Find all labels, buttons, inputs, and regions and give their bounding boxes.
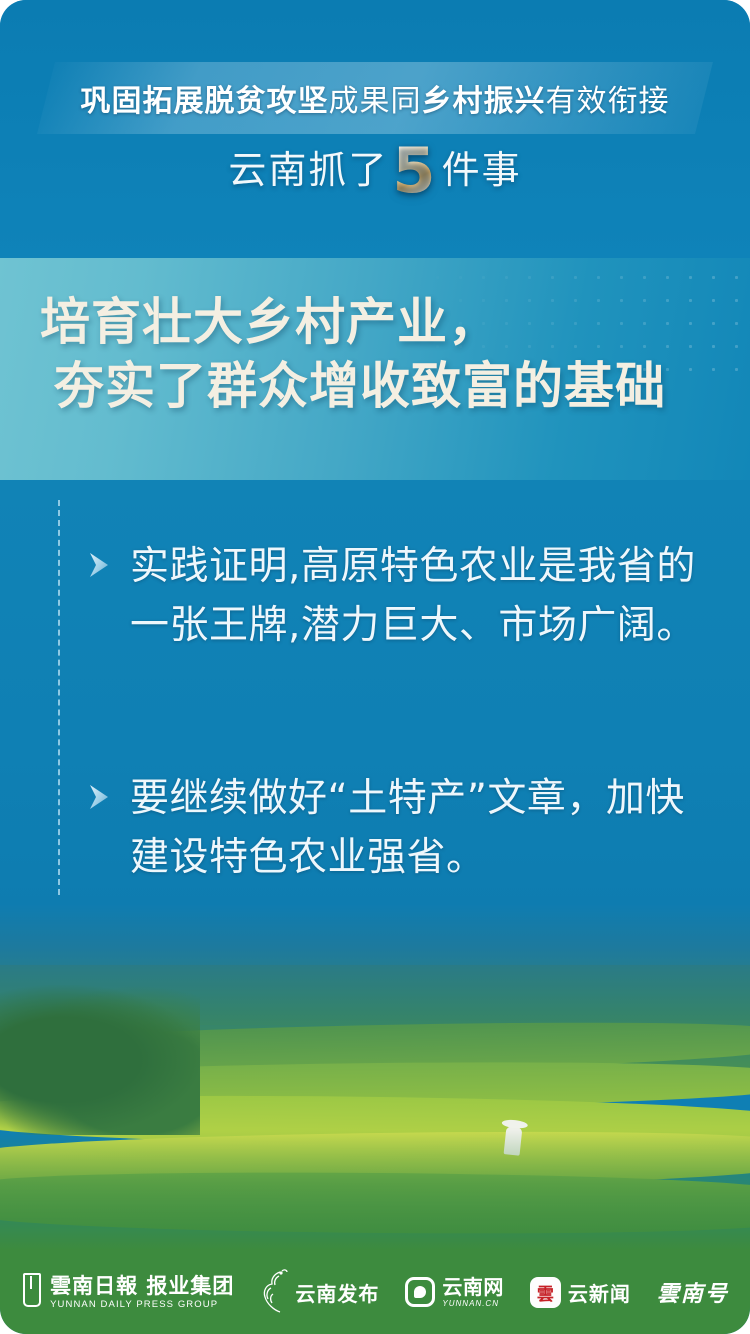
peacock-icon [260, 1269, 290, 1315]
headline-text: 培育壮大乡村产业， 夯实了群众增收致富的基础 [40, 290, 730, 418]
poster-root: 巩固拓展脱贫攻坚成果同乡村振兴有效衔接 云南抓了 5 件事 培育壮大乡村产业， … [0, 0, 750, 1334]
headline-band: 培育壮大乡村产业， 夯实了群众增收致富的基础 [0, 258, 750, 480]
subtitle-prefix: 云南抓了 [228, 139, 388, 194]
logo-label-en: YUNNAN DAILY PRESS GROUP [50, 1300, 234, 1310]
banner-seg-5: 有效衔接 [546, 76, 670, 120]
headline-line-2: 夯实了群众增收致富的基础 [40, 354, 730, 418]
cup-icon [21, 1273, 43, 1311]
logo-yunnan-hao[interactable]: 雲南号 [657, 1276, 729, 1308]
field-photograph [0, 905, 750, 1250]
cloud-square-icon [405, 1277, 435, 1307]
logo-label-cn: 云南发布 [295, 1278, 379, 1307]
app-icon: 雲 [530, 1277, 561, 1308]
footer-logo-bar: 雲南日報 报业集团 YUNNAN DAILY PRESS GROUP 云南发布 [0, 1250, 750, 1334]
logo-label-cn: 雲南日報 报业集团 [50, 1275, 234, 1296]
subtitle-suffix: 件事 [442, 139, 522, 194]
dashed-vertical-divider [58, 500, 60, 895]
list-item: 实践证明,高原特色农业是我省的一张王牌,潜力巨大、市场广阔。 [84, 538, 724, 655]
banner-seg-3: 成果同 [329, 76, 422, 120]
logo-label-cn: 云南网 [442, 1277, 504, 1297]
chevron-right-icon [84, 780, 118, 814]
logo-label-cn: 云新闻 [568, 1278, 631, 1307]
header-subtitle: 云南抓了 5 件事 [0, 128, 750, 204]
photo-bottom-fade [0, 1130, 750, 1250]
header-banner: 巩固拓展脱贫攻坚成果同乡村振兴有效衔接 [0, 62, 750, 134]
list-item-text: 要继续做好“土特产”文章，加快建设特色农业强省。 [130, 770, 724, 887]
banner-seg-1: 巩固拓展 [81, 76, 205, 120]
headline-line-1: 培育壮大乡村产业， [40, 292, 499, 351]
logo-yunnan-net[interactable]: 云南网 YUNNAN.CN [405, 1277, 504, 1308]
logo-yunnan-daily-press-group[interactable]: 雲南日報 报业集团 YUNNAN DAILY PRESS GROUP [21, 1273, 234, 1311]
banner-seg-4: 乡村振兴 [422, 76, 546, 120]
bullet-section: 实践证明,高原特色农业是我省的一张王牌,潜力巨大、市场广阔。 要继续做好“土特产… [0, 480, 750, 920]
chevron-right-icon [84, 548, 118, 582]
logo-label-cn: 雲南号 [657, 1276, 729, 1308]
list-item: 要继续做好“土特产”文章，加快建设特色农业强省。 [84, 770, 724, 887]
header-section: 巩固拓展脱贫攻坚成果同乡村振兴有效衔接 云南抓了 5 件事 [0, 0, 750, 258]
logo-label-en: YUNNAN.CN [442, 1300, 504, 1308]
subtitle-count-number: 5 [392, 146, 437, 196]
list-item-text: 实践证明,高原特色农业是我省的一张王牌,潜力巨大、市场广阔。 [130, 538, 724, 655]
banner-seg-2: 脱贫攻坚 [205, 76, 329, 120]
photo-trees [0, 985, 200, 1135]
banner-title: 巩固拓展脱贫攻坚成果同乡村振兴有效衔接 [0, 62, 750, 134]
logo-yun-xinwen[interactable]: 雲 云新闻 [530, 1277, 631, 1308]
logo-yunnan-fabu[interactable]: 云南发布 [260, 1269, 379, 1315]
